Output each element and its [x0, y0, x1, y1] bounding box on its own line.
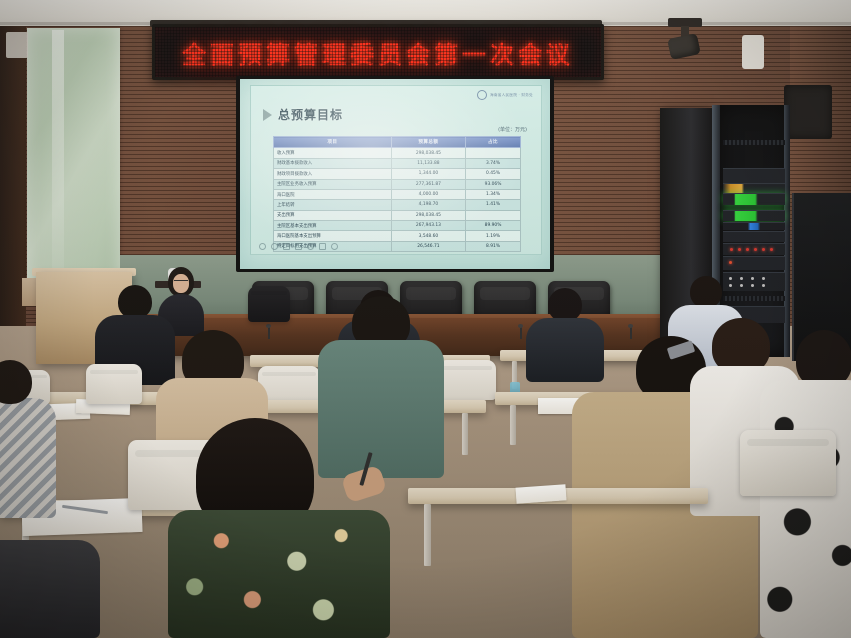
cell-percent: 8.91%	[466, 241, 521, 251]
pen-icon[interactable]	[271, 243, 278, 250]
person-body	[526, 318, 604, 382]
glass-reflection	[52, 30, 64, 280]
projection-screen: 海南省人民医院 · 财务处 总预算目标 (单位：万元) 项目 预算总额 占比 收…	[240, 79, 550, 269]
meeting-room-photo: 全面预算管理委员会第一次会议 海南省人民医院 · 财务处 总预算目标 (单位：万…	[0, 0, 851, 638]
cell-percent: 1.34%	[466, 189, 521, 199]
cell-amount: 267,943.13	[391, 221, 465, 231]
cell-item: 财政基本拨款收入	[274, 158, 392, 168]
person-head	[690, 276, 722, 308]
cell-item: 支出预算	[274, 210, 392, 220]
cell-item: 收入预算	[274, 148, 392, 158]
cell-item: 海口医院基本支出预算	[274, 231, 392, 241]
person-body	[0, 398, 56, 518]
chair	[740, 430, 836, 496]
cell-percent	[466, 210, 521, 220]
rack-vent-panel	[723, 296, 785, 301]
cell-amount: 277,361.87	[391, 179, 465, 189]
glass-wall-panel	[27, 28, 120, 285]
cell-amount: 4,198.70	[391, 200, 465, 210]
person-body	[0, 540, 100, 638]
table-row: 主院区业务收入预算277,361.8793.06%	[274, 179, 521, 189]
eraser-icon[interactable]	[295, 243, 302, 250]
person-body	[760, 380, 851, 638]
column-header-pct: 占比	[466, 137, 521, 148]
more-icon[interactable]	[331, 243, 338, 250]
speaker-icon	[784, 85, 832, 139]
cell-item: 财政项目拨款收入	[274, 169, 392, 179]
column-header-amount: 预算总额	[391, 137, 465, 148]
cell-percent: 93.06%	[466, 179, 521, 189]
cell-percent	[466, 148, 521, 158]
person-head	[548, 288, 582, 322]
rack-unit-green-display	[723, 193, 785, 205]
person-head	[118, 285, 152, 319]
logo-mark-icon	[477, 90, 487, 100]
laser-icon[interactable]	[307, 243, 314, 250]
rack-unit-blank	[723, 231, 785, 242]
desk-leg	[424, 504, 431, 566]
cell-amount: 4,000.00	[391, 189, 465, 199]
led-banner: 全面预算管理委员会第一次会议	[152, 24, 604, 80]
table-row: 财政基本拨款收入11,133.883.74%	[274, 158, 521, 168]
microphone-icon	[268, 326, 270, 339]
rack-unit-blue-led	[723, 222, 785, 230]
cell-percent: 1.19%	[466, 231, 521, 241]
slide-title: 总预算目标	[278, 106, 343, 123]
cell-percent: 1.41%	[466, 200, 521, 210]
banner-text: 全面预算管理委员会第一次会议	[155, 27, 601, 77]
cell-percent: 3.74%	[466, 158, 521, 168]
pointer-icon[interactable]	[259, 243, 266, 250]
rack-unit-amplifier	[723, 256, 785, 270]
table-row: 海口医院4,000.001.34%	[274, 189, 521, 199]
table-header-row: 项目 预算总额 占比	[274, 137, 521, 148]
person-body	[168, 510, 390, 638]
column-header-item: 项目	[274, 137, 392, 148]
cell-item: 上年结转	[274, 200, 392, 210]
microphone-icon	[630, 326, 632, 339]
cell-amount: 26,546.71	[391, 241, 465, 251]
cell-percent: 0.45%	[466, 169, 521, 179]
presentation-slide: 海南省人民医院 · 财务处 总预算目标 (单位：万元) 项目 预算总额 占比 收…	[250, 85, 542, 255]
cell-amount: 298,038.45	[391, 210, 465, 220]
rack-unit-patch-panel	[723, 272, 785, 291]
menu-icon[interactable]	[319, 243, 326, 250]
logo-text: 海南省人民医院 · 财务处	[490, 93, 533, 98]
rack-unit-blank	[723, 168, 785, 183]
rack-unit-led-strip	[723, 243, 785, 255]
triangle-bullet-icon	[263, 109, 272, 121]
chair	[86, 364, 142, 404]
slide-logo: 海南省人民医院 · 财务处	[477, 90, 533, 100]
slide-title-row: 总预算目标	[263, 106, 343, 123]
desk-leg	[510, 405, 516, 445]
person-body	[318, 340, 444, 478]
cell-item: 主院区业务收入预算	[274, 179, 392, 189]
cell-amount: 3,548.60	[391, 231, 465, 241]
rack-vent-panel	[723, 140, 785, 145]
table-row: 主院区基本支出预算267,943.1389.90%	[274, 221, 521, 231]
slide-unit-label: (单位：万元)	[498, 126, 527, 133]
cell-item: 海口医院	[274, 189, 392, 199]
wall-control-panel	[742, 35, 764, 69]
table-row: 收入预算298,038.45	[274, 148, 521, 158]
cell-amount: 298,038.45	[391, 148, 465, 158]
chair	[248, 286, 290, 322]
cell-percent: 89.90%	[466, 221, 521, 231]
cell-amount: 1,344.00	[391, 169, 465, 179]
cell-amount: 11,133.88	[391, 158, 465, 168]
microphone-icon	[520, 326, 522, 339]
table-row: 支出预算298,038.45	[274, 210, 521, 220]
table-row: 海口医院基本支出预算3,548.601.19%	[274, 231, 521, 241]
cell-item: 主院区基本支出预算	[274, 221, 392, 231]
budget-table: 项目 预算总额 占比 收入预算298,038.45财政基本拨款收入11,133.…	[273, 136, 521, 252]
highlighter-icon[interactable]	[283, 243, 290, 250]
presenter-toolbar[interactable]	[259, 243, 338, 250]
table-row: 财政项目拨款收入1,344.000.45%	[274, 169, 521, 179]
rack-unit-green-display	[723, 210, 785, 221]
desk-leg	[462, 413, 468, 455]
wall-mounted-box	[6, 32, 28, 58]
table-row: 上年结转4,198.701.41%	[274, 200, 521, 210]
chair	[438, 360, 496, 400]
rack-unit-amber	[723, 183, 785, 193]
glasses-icon	[174, 280, 188, 285]
